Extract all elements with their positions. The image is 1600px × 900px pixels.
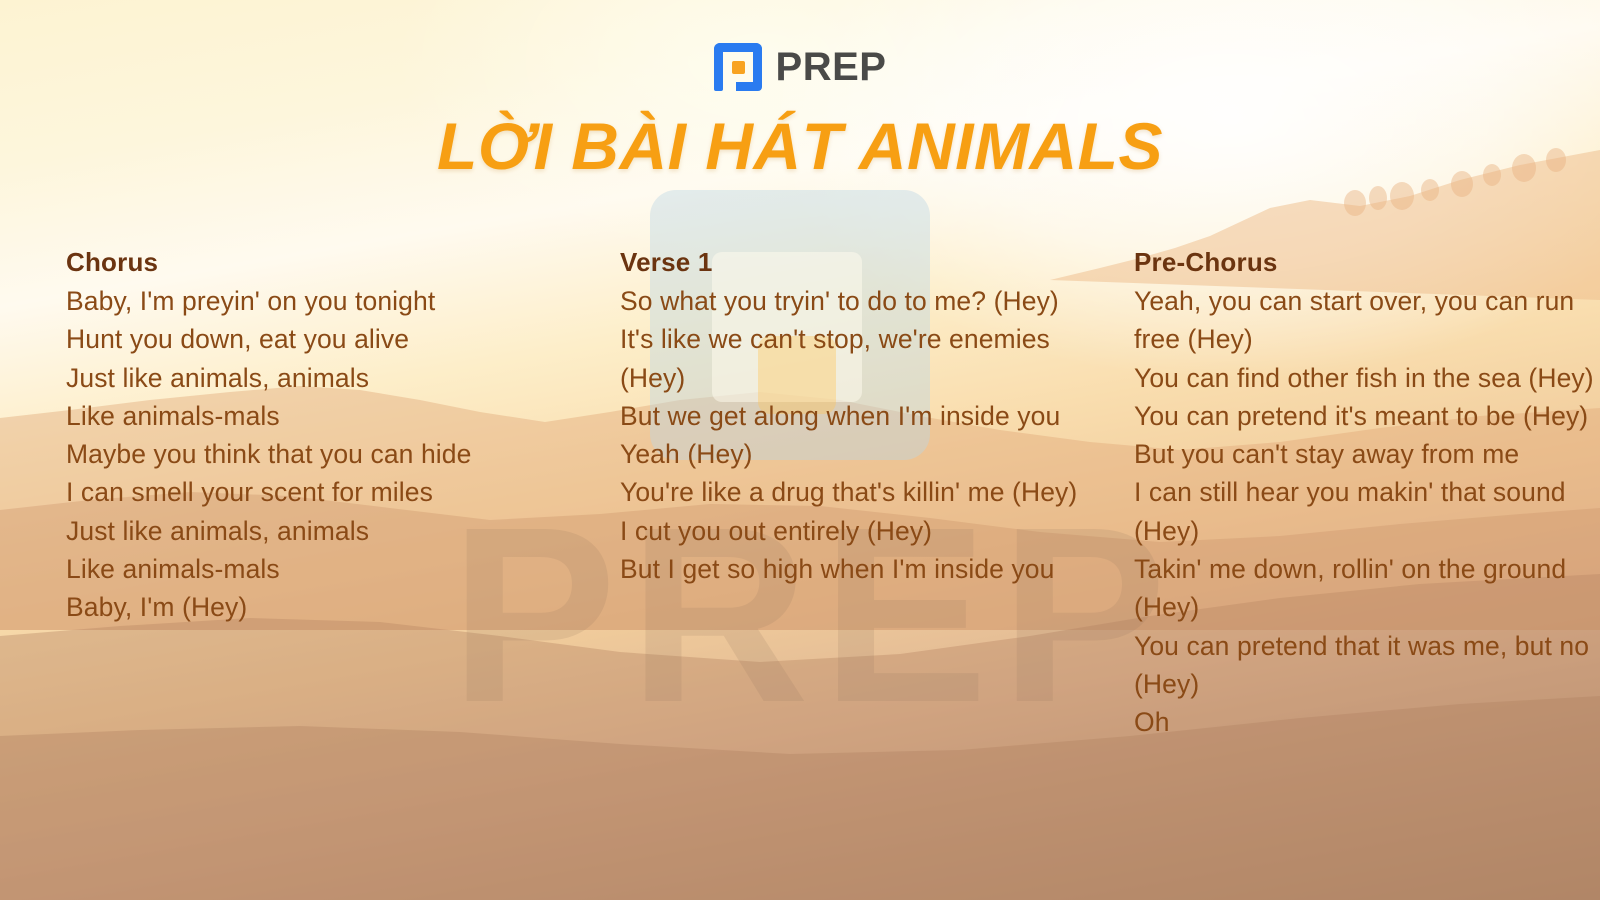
lyric-line: I cut you out entirely (Hey) bbox=[620, 512, 1080, 550]
lyrics-column-verse-1: Verse 1 So what you tryin' to do to me? … bbox=[620, 243, 1080, 588]
lyric-line: So what you tryin' to do to me? (Hey) bbox=[620, 282, 1080, 320]
lyric-line: I can smell your scent for miles bbox=[66, 473, 526, 511]
lyric-line: Yeah, you can start over, you can run fr… bbox=[1134, 282, 1594, 359]
lyric-line: But we get along when I'm inside you bbox=[620, 397, 1080, 435]
lyric-line: Just like animals, animals bbox=[66, 359, 526, 397]
lyric-line: You can find other fish in the sea (Hey) bbox=[1134, 359, 1594, 397]
lyrics-column-pre-chorus: Pre-Chorus Yeah, you can start over, you… bbox=[1134, 243, 1594, 741]
lyric-line: Like animals-mals bbox=[66, 397, 526, 435]
lyric-line: Maybe you think that you can hide bbox=[66, 435, 526, 473]
lyric-line: Like animals-mals bbox=[66, 550, 526, 588]
lyrics-columns: Chorus Baby, I'm preyin' on you tonight … bbox=[66, 243, 1536, 741]
page-title: LỜI BÀI HÁT ANIMALS bbox=[0, 111, 1600, 182]
lyrics-column-chorus: Chorus Baby, I'm preyin' on you tonight … bbox=[66, 243, 526, 627]
lyric-line: You can pretend it's meant to be (Hey) bbox=[1134, 397, 1594, 435]
lyric-line: Baby, I'm (Hey) bbox=[66, 588, 526, 626]
lyric-line: Takin' me down, rollin' on the ground (H… bbox=[1134, 550, 1594, 627]
poster-content: PREP LỜI BÀI HÁT ANIMALS Chorus Baby, I'… bbox=[0, 0, 1600, 900]
brand-wordmark: PREP bbox=[776, 47, 887, 87]
lyric-line: Hunt you down, eat you alive bbox=[66, 320, 526, 358]
lyric-line: Yeah (Hey) bbox=[620, 435, 1080, 473]
lyric-line: I can still hear you makin' that sound (… bbox=[1134, 473, 1594, 550]
prep-logo-icon bbox=[714, 43, 762, 91]
lyric-line: But you can't stay away from me bbox=[1134, 435, 1594, 473]
brand-header: PREP bbox=[0, 0, 1600, 91]
lyric-line: But I get so high when I'm inside you bbox=[620, 550, 1080, 588]
lyric-line: You're like a drug that's killin' me (He… bbox=[620, 473, 1080, 511]
lyric-line: Oh bbox=[1134, 703, 1594, 741]
lyric-line: You can pretend that it was me, but no (… bbox=[1134, 627, 1594, 704]
section-heading: Pre-Chorus bbox=[1134, 243, 1594, 282]
lyrics-poster: PREP PREP LỜI BÀI HÁT ANIMALS Chorus Bab… bbox=[0, 0, 1600, 900]
lyric-line: Just like animals, animals bbox=[66, 512, 526, 550]
section-heading: Verse 1 bbox=[620, 243, 1080, 282]
section-heading: Chorus bbox=[66, 243, 526, 282]
lyric-line: Baby, I'm preyin' on you tonight bbox=[66, 282, 526, 320]
lyric-line: It's like we can't stop, we're enemies (… bbox=[620, 320, 1080, 397]
